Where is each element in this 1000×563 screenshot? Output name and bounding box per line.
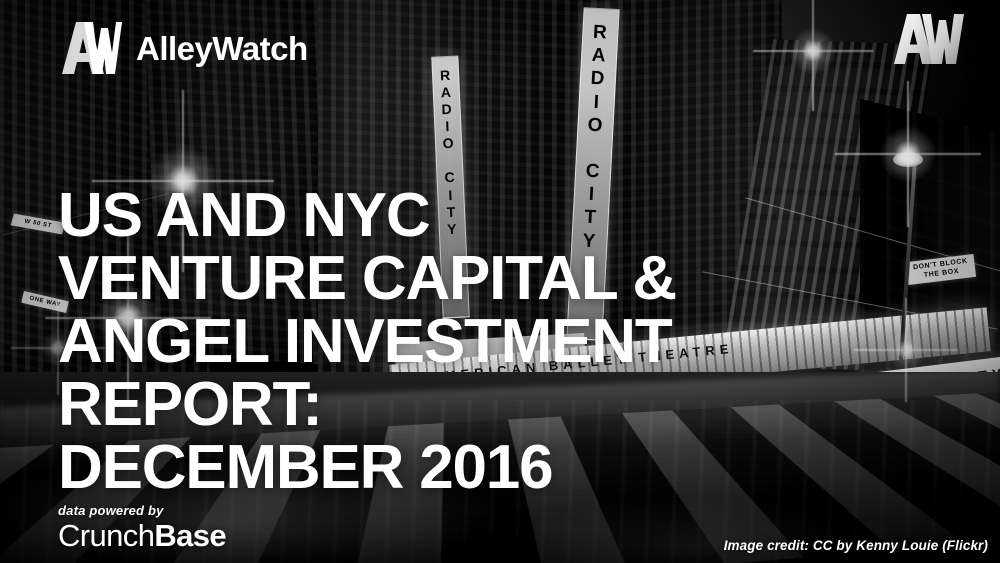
data-source-kicker: data powered by (58, 503, 226, 518)
alleywatch-wordmark: AlleyWatch (136, 32, 308, 65)
alleywatch-aw-3d-logo-icon (892, 12, 978, 88)
title-slide: RADIO CITY RADIO CITY AMERICAN BALLET TH… (0, 0, 1000, 563)
title-line-4: REPORT: (58, 373, 676, 436)
title-line-2: VENTURE CAPITAL & (58, 247, 676, 310)
title-line-3: ANGEL INVESTMENT (58, 310, 676, 373)
alleywatch-brand-lockup: AlleyWatch (60, 22, 308, 74)
data-source-credit: data powered by CrunchBase (58, 503, 226, 551)
title-line-5: DECEMBER 2016 (58, 436, 676, 499)
alleywatch-aw-monogram-icon (60, 22, 122, 74)
image-credit: Image credit: CC by Kenny Louie (Flickr) (724, 538, 988, 553)
crunchbase-word-light: Crunch (58, 518, 154, 553)
page-title: US AND NYC VENTURE CAPITAL & ANGEL INVES… (58, 184, 676, 499)
crunchbase-word-bold: Base (154, 518, 226, 553)
title-line-1: US AND NYC (58, 184, 676, 247)
crunchbase-wordmark: CrunchBase (58, 520, 226, 551)
content-layer: AlleyWatch (0, 0, 1000, 563)
